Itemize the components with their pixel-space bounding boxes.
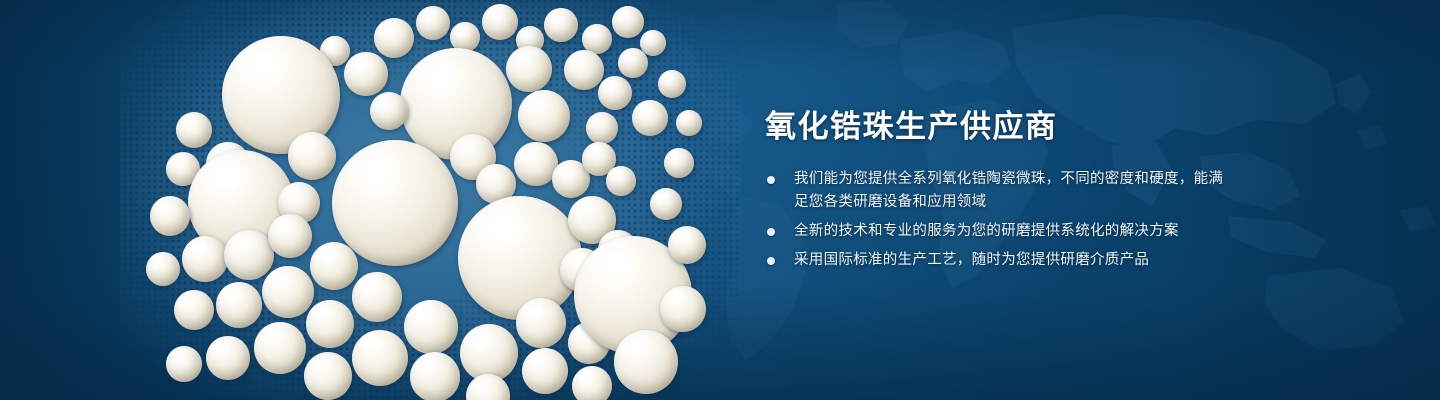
banner-content: 氧化锆珠生产供应商 我们能为您提供全系列氧化锆陶瓷微珠，不同的密度和硬度，能满足… bbox=[765, 0, 1405, 400]
feature-bullet-3: 采用国际标准的生产工艺，随时为您提供研磨介质产品 bbox=[767, 249, 1224, 272]
feature-bullet-list: 我们能为您提供全系列氧化锆陶瓷微珠，不同的密度和硬度，能满足您各类研磨设备和应用… bbox=[767, 168, 1224, 272]
feature-bullet-1: 我们能为您提供全系列氧化锆陶瓷微珠，不同的密度和硬度，能满足您各类研磨设备和应用… bbox=[767, 168, 1224, 214]
banner-headline: 氧化锆珠生产供应商 bbox=[765, 110, 1058, 144]
bullet-dot-icon bbox=[767, 176, 775, 184]
feature-bullet-2: 全新的技术和专业的服务为您的研磨提供系统化的解决方案 bbox=[767, 220, 1224, 243]
zirconia-beads-photo bbox=[120, 0, 740, 400]
feature-bullet-3-text: 采用国际标准的生产工艺，随时为您提供研磨介质产品 bbox=[794, 252, 1149, 268]
feature-bullet-1-text: 我们能为您提供全系列氧化锆陶瓷微珠，不同的密度和硬度，能满足您各类研磨设备和应用… bbox=[794, 171, 1223, 210]
feature-bullet-2-text: 全新的技术和专业的服务为您的研磨提供系统化的解决方案 bbox=[794, 223, 1179, 239]
bullet-dot-icon bbox=[767, 228, 775, 236]
bead-cluster bbox=[120, 0, 740, 400]
bullet-dot-icon bbox=[767, 257, 775, 265]
hero-banner: 氧化锆珠生产供应商 我们能为您提供全系列氧化锆陶瓷微珠，不同的密度和硬度，能满足… bbox=[0, 0, 1440, 400]
